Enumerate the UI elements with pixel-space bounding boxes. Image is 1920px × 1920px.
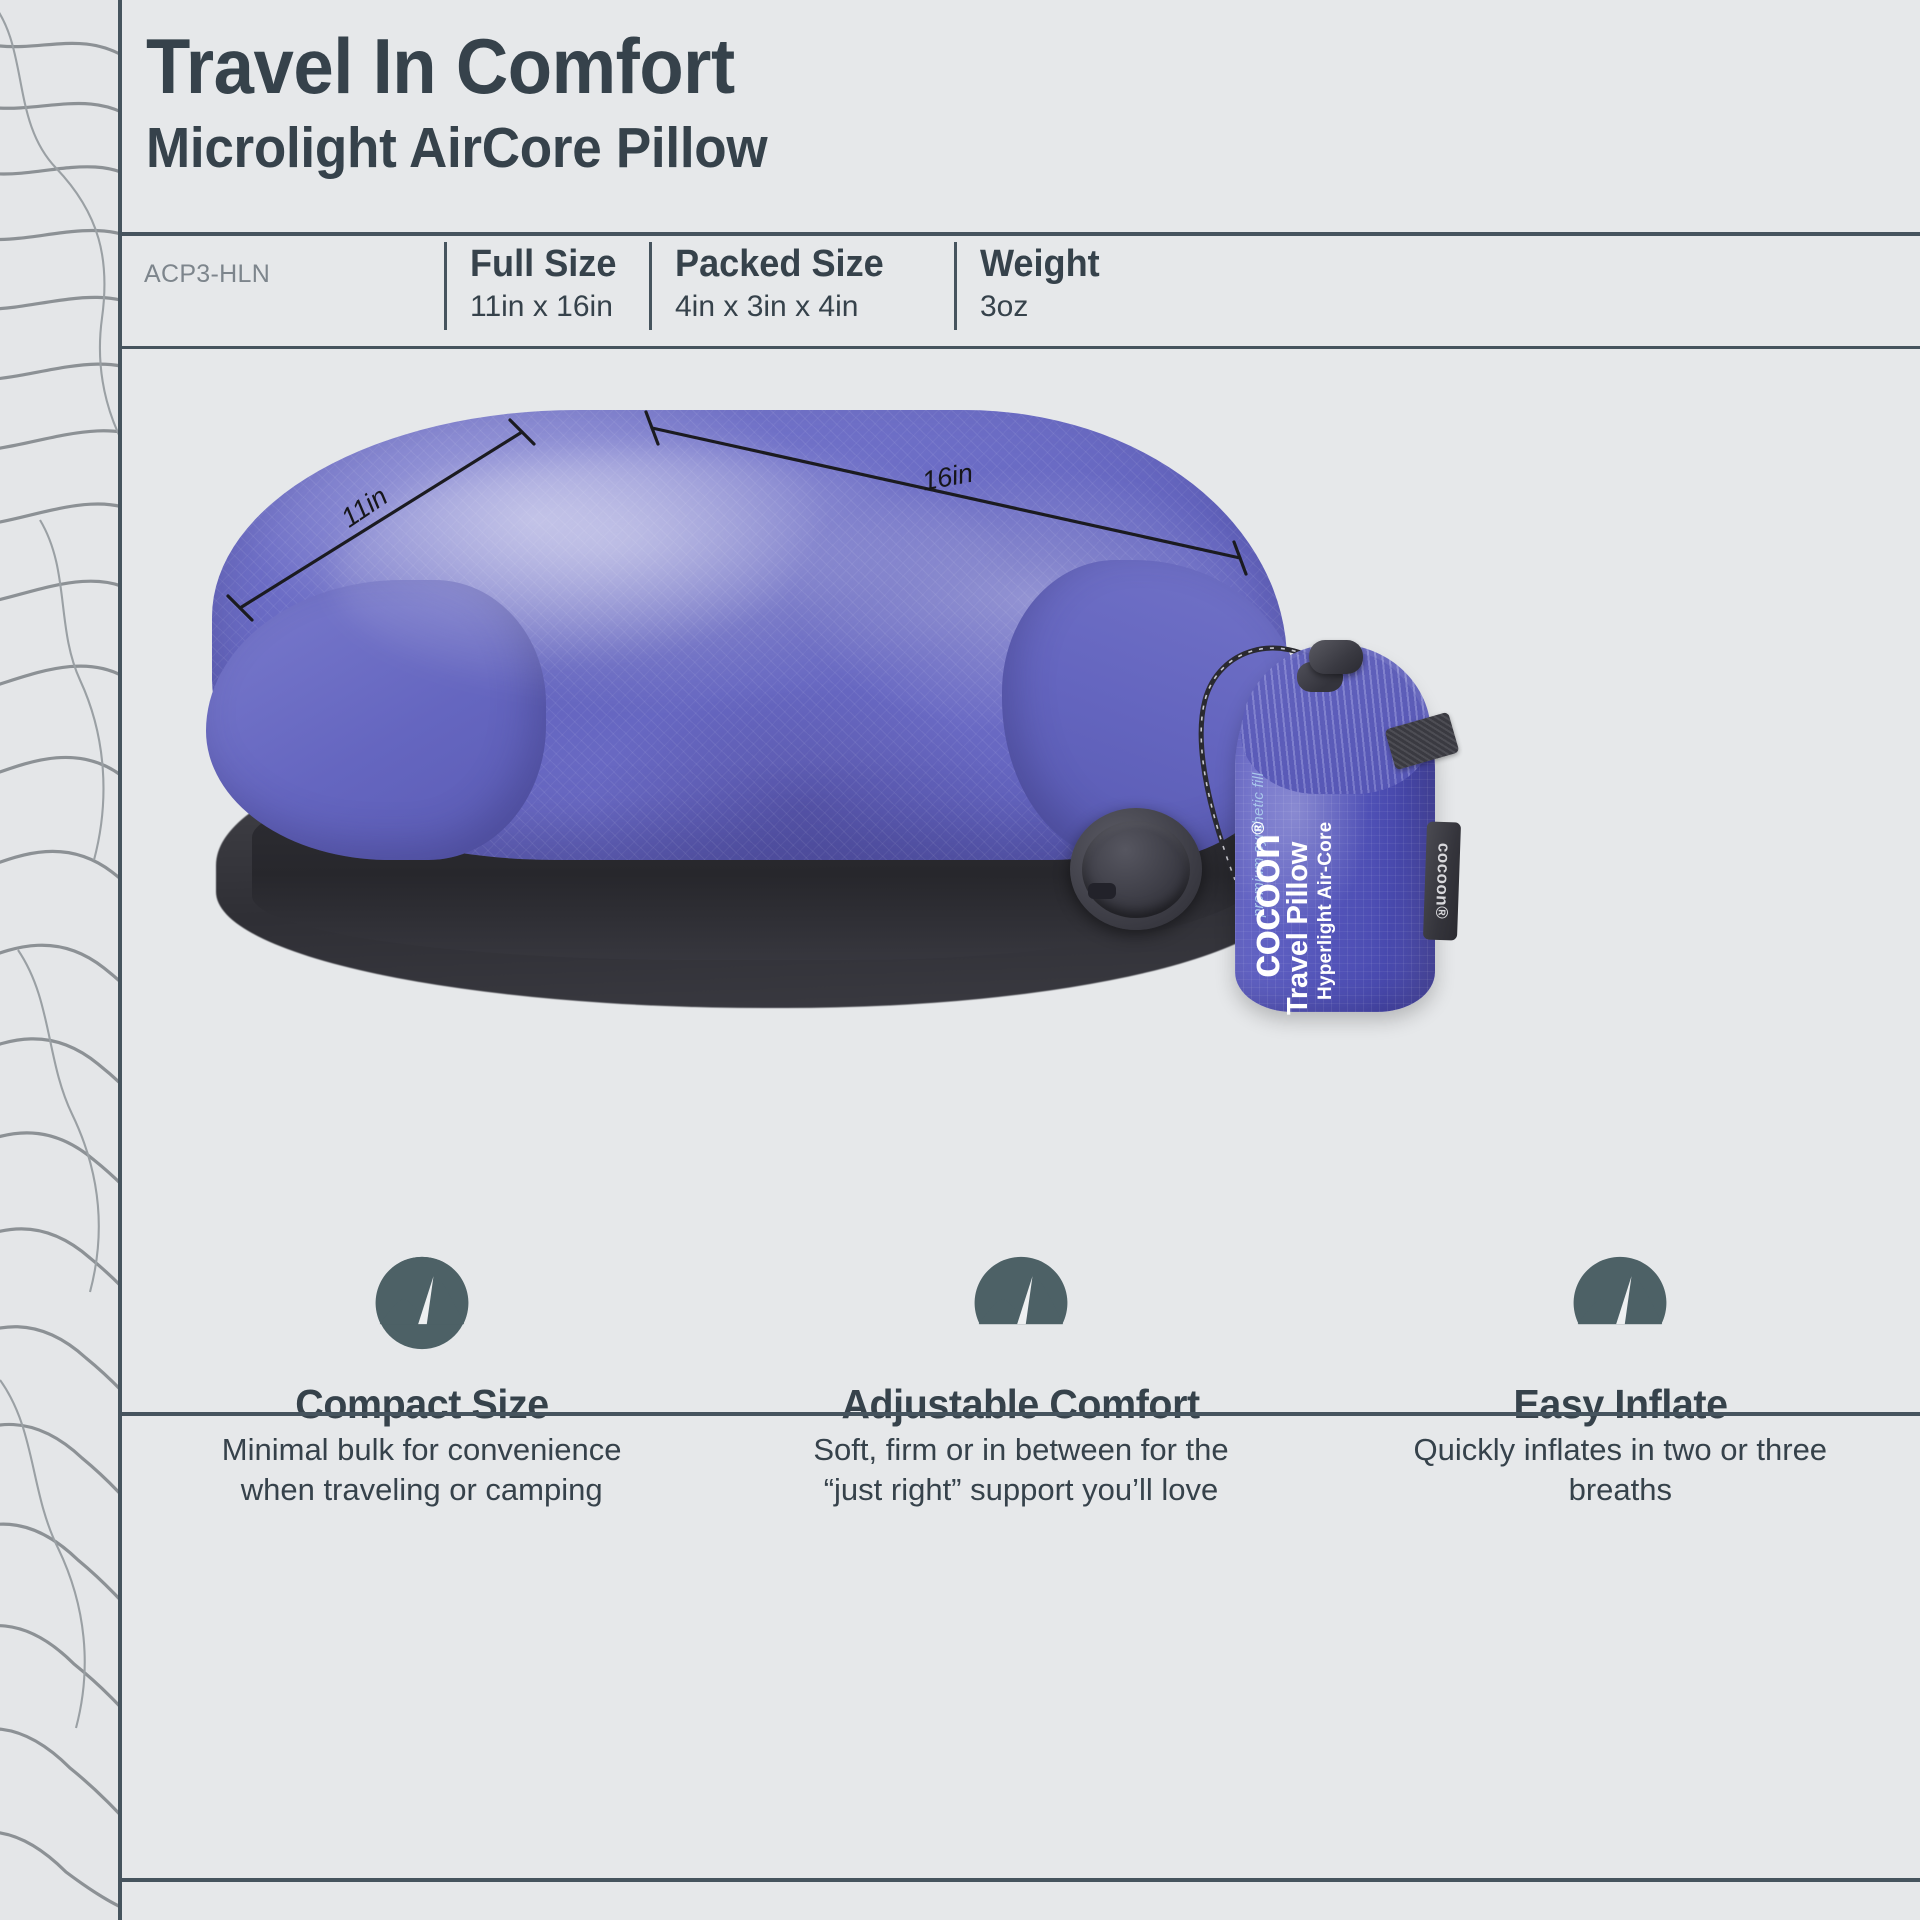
cord-lock-icon [1309,640,1363,674]
spec-bar: ACP3-HLN Full Size 11in x 16in Packed Si… [122,236,1920,346]
header: Travel In Comfort Microlight AirCore Pil… [146,28,1846,182]
spec-packed-size-label: Packed Size [675,244,940,284]
spec-packed-size-value: 4in x 3in x 4in [675,288,954,326]
spec-full-size-value: 11in x 16in [470,288,649,326]
topographic-pattern-strip [0,0,122,1920]
feature-body-col: Quickly inflates in two or three breaths [1321,1430,1920,1511]
mountain-circle-icon [973,1255,1069,1351]
sack-brand-loop: cocoon® [1423,821,1461,940]
product-image: 11in 16in cocoon® premi [122,350,1920,1230]
feature-description: Quickly inflates in two or three breaths [1400,1430,1840,1511]
spec-packed-size: Packed Size 4in x 3in x 4in [649,236,954,346]
sack-product-label: Travel Pillow [1282,842,1315,1015]
mountain-circle-icon [374,1255,470,1351]
dimension-callouts: 11in 16in [122,350,1920,1230]
sku-label: ACP3-HLN [122,236,444,346]
sack-subtitle-label: Hyperlight Air-Core [1315,822,1337,1000]
feature-description: Soft, firm or in between for the “just r… [801,1430,1241,1511]
spec-weight-label: Weight [980,244,1297,284]
dimension-lines-svg [122,350,1920,1230]
sack-loop-label: cocoon® [1431,842,1454,919]
feature-body-col: Soft, firm or in between for the “just r… [721,1430,1320,1511]
feature-title: Easy Inflate [1513,1381,1727,1428]
topographic-lines-svg [0,0,122,1920]
feature-body-col: Minimal bulk for convenience when travel… [122,1430,721,1511]
feature-descriptions-row: Minimal bulk for convenience when travel… [122,1430,1920,1511]
feature-description: Minimal bulk for convenience when travel… [202,1430,642,1511]
bottom-rule [122,1878,1920,1882]
feature-title: Adjustable Comfort [842,1381,1200,1428]
spec-weight: Weight 3oz [954,236,1314,346]
feature-title: Compact Size [295,1381,548,1428]
spec-full-size-label: Full Size [470,244,640,284]
mountain-circle-icon [1572,1255,1668,1351]
stuff-sack-illustration: cocoon® premium synthetic fill cocoon® H… [1197,600,1497,1020]
spec-bottom-rule [122,346,1920,349]
infographic-page: Travel In Comfort Microlight AirCore Pil… [0,0,1920,1920]
spec-weight-value: 3oz [980,288,1314,326]
page-subtitle: Microlight AirCore Pillow [146,115,1727,182]
feature-divider-rule [122,1412,1920,1416]
spec-full-size: Full Size 11in x 16in [444,236,649,346]
page-title: Travel In Comfort [146,28,1727,105]
